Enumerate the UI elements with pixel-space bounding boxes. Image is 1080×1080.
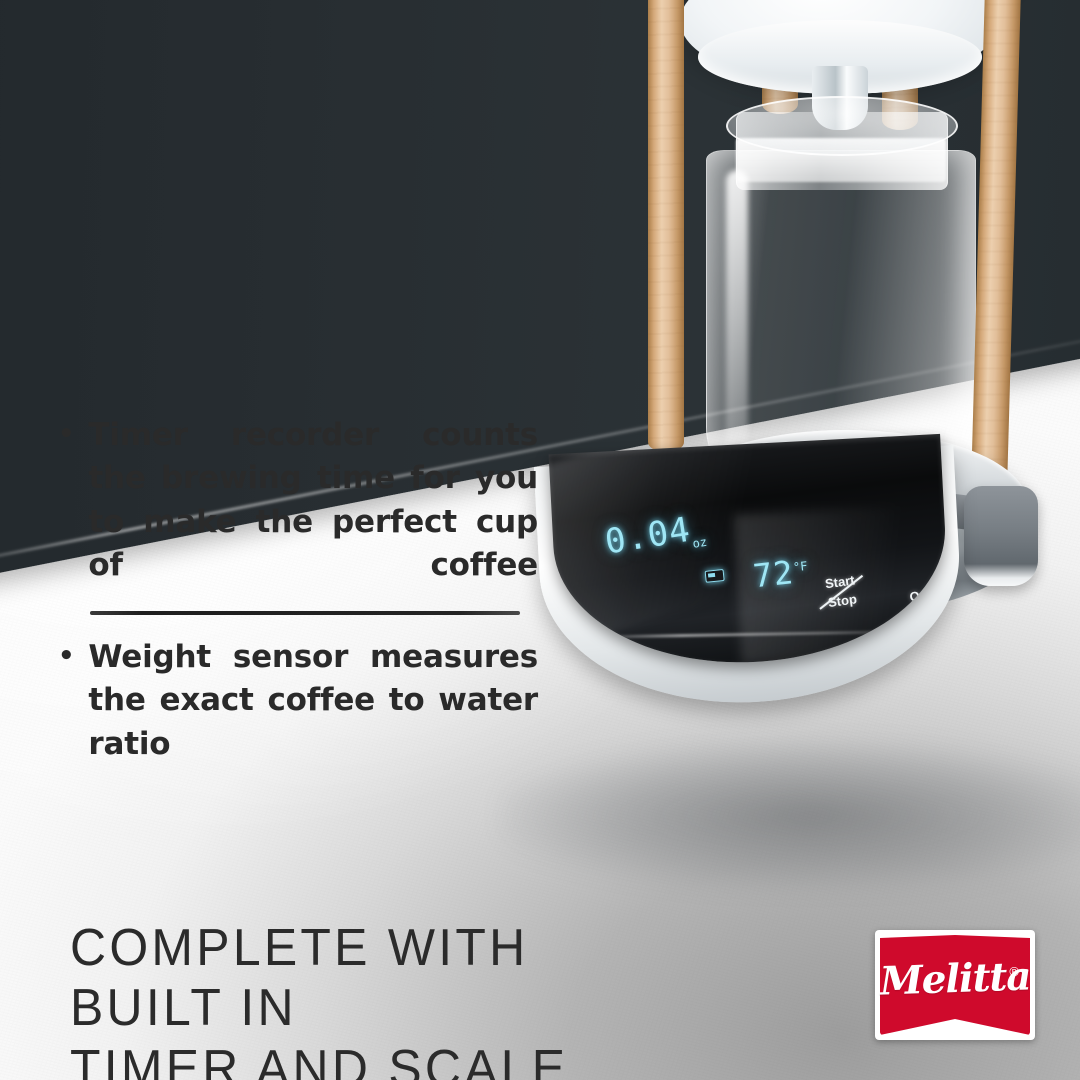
logo-wordmark: Melitta [874,953,1036,1005]
wooden-leg-front-left [648,0,684,452]
feature-bullet-2: • Weight sensor measures the exact coffe… [58,636,538,810]
headline: COMPLETE WITH BUILT IN TIMER AND SCALE [70,918,684,1080]
feature-text-2: Weight sensor measures the exact coffee … [88,636,538,810]
wooden-leg-front-right [971,0,1022,498]
scale-control-panel[interactable]: 0.04oz 72°F Start Stop On Tare [549,434,952,672]
feature-bullet-1: • Timer recorder counts the brewing time… [58,414,538,631]
headline-line-2: TIMER AND SCALE [70,1039,684,1080]
weight-unit: oz [692,535,708,551]
temperature-unit: °F [792,559,808,574]
brewer-cone-ring [726,96,958,156]
built-in-scale-module: 0.04oz 72°F Start Stop On Tare [540,438,960,704]
carafe-highlight [726,170,748,470]
feature-divider [90,611,520,615]
melitta-logo: Melitta ® [875,930,1035,1040]
headline-line-1: COMPLETE WITH BUILT IN [70,918,684,1039]
temperature-value: 72 [751,553,795,595]
battery-icon [705,569,725,583]
product-coffee-brewer: 0.04oz 72°F Start Stop On Tare [530,0,1080,880]
registered-trademark-icon: ® [1009,964,1019,979]
silicone-leg-foot [964,486,1038,586]
feature-text-1: Timer recorder counts the brewing time f… [88,414,538,631]
marketing-image: 0.04oz 72°F Start Stop On Tare [0,0,1080,1080]
bullet-marker: • [58,414,74,631]
bullet-marker: • [58,636,74,810]
temperature-readout: 72°F [751,552,810,596]
